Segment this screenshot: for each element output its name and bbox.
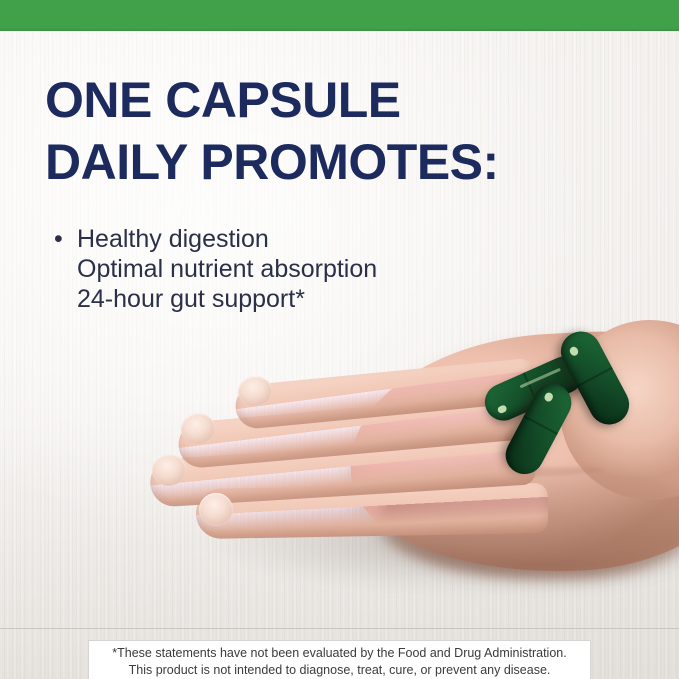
- product-infographic-canvas: ONE CAPSULE DAILY PROMOTES: • Healthy di…: [0, 0, 679, 679]
- disclaimer-line-2: This product is not intended to diagnose…: [95, 662, 584, 679]
- disclaimer-line-1: *These statements have not been evaluate…: [95, 645, 584, 662]
- list-item: Optimal nutrient absorption: [52, 254, 572, 284]
- bullet-icon: •: [52, 224, 77, 254]
- capsule-highlight: [497, 404, 508, 414]
- capsule-joint: [524, 415, 558, 435]
- footer-divider: [0, 628, 679, 629]
- fda-disclaimer: *These statements have not been evaluate…: [88, 640, 591, 679]
- list-item: • Healthy digestion: [52, 224, 572, 254]
- capsule-highlight: [543, 391, 554, 403]
- capsule-highlight: [568, 346, 579, 358]
- capsule-joint: [576, 367, 612, 388]
- hand-with-capsules-photo: [0, 300, 679, 628]
- green-accent-bar: [0, 0, 679, 31]
- benefit-text: Optimal nutrient absorption: [77, 254, 572, 284]
- benefit-text: Healthy digestion: [77, 224, 572, 254]
- page-title: ONE CAPSULE DAILY PROMOTES:: [45, 69, 645, 193]
